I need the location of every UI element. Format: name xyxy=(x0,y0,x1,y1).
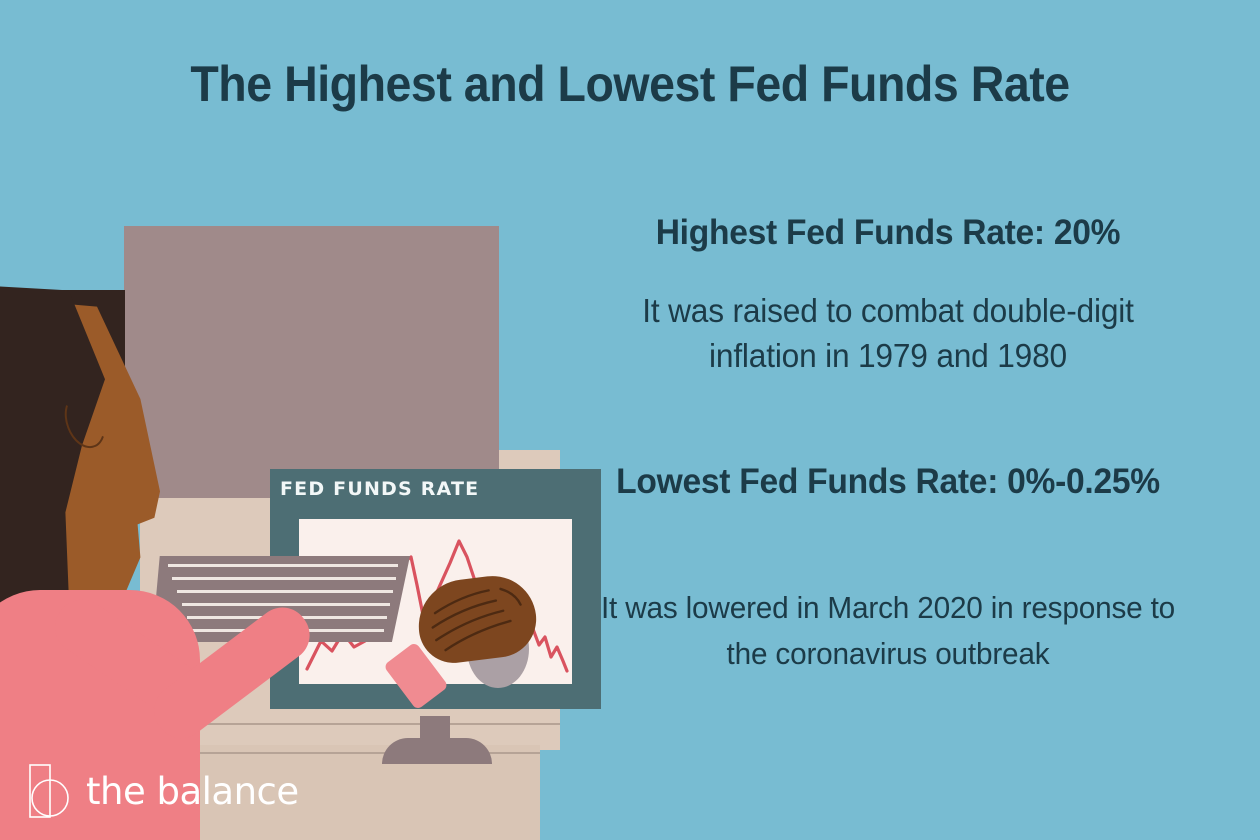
monitor-icon: FED FUNDS RATE xyxy=(124,226,499,498)
monitor-screen-label: FED FUNDS RATE xyxy=(280,478,580,500)
keyboard-row-line xyxy=(182,603,390,606)
hand-finger-lines xyxy=(413,571,540,667)
keyboard-row-line xyxy=(172,577,396,580)
illustration: FED FUNDS RATE xyxy=(0,0,600,840)
logo-wordmark: the balance xyxy=(86,770,299,813)
logo-mark-svg xyxy=(26,762,72,820)
lowest-rate-description: It was lowered in March 2020 in response… xyxy=(600,585,1176,677)
the-balance-logo: the balance xyxy=(26,762,299,820)
keyboard-row-line xyxy=(177,590,393,593)
monitor-stand-base xyxy=(382,738,492,764)
lowest-rate-heading: Lowest Fed Funds Rate: 0%-0.25% xyxy=(600,458,1176,506)
keyboard-row-line xyxy=(168,564,398,567)
balance-b-mark-icon xyxy=(26,762,72,820)
highest-rate-heading: Highest Fed Funds Rate: 20% xyxy=(600,213,1176,253)
infographic-canvas: The Highest and Lowest Fed Funds Rate FE… xyxy=(0,0,1260,840)
highest-rate-description: It was raised to combat double-digit inf… xyxy=(600,288,1176,378)
person-hand xyxy=(413,571,540,667)
